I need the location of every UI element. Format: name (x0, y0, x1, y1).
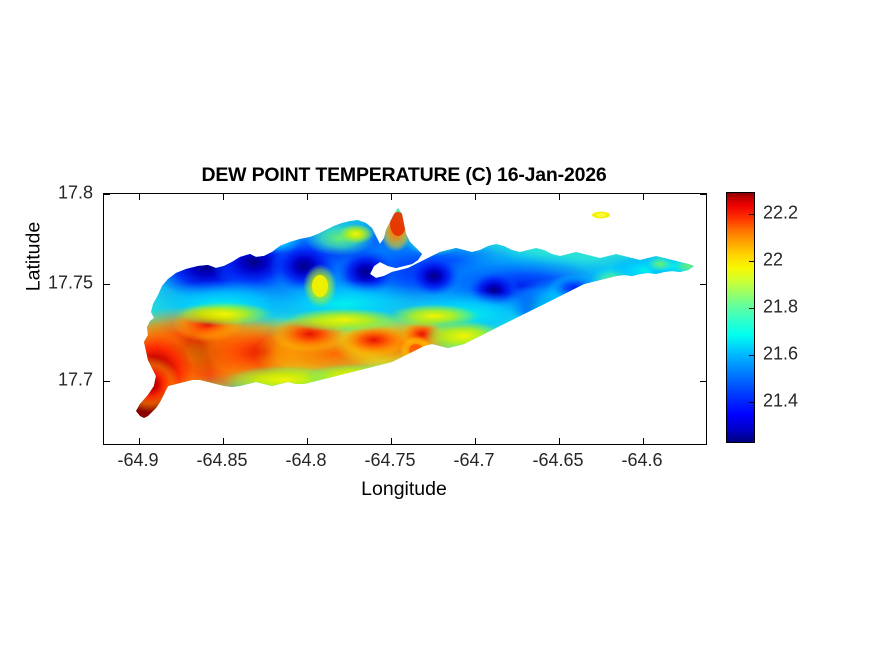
xtick-label: -64.65 (532, 450, 583, 471)
xtick-mark (643, 438, 644, 444)
temperature-field-map (104, 194, 706, 444)
x-axis-label: Longitude (103, 478, 705, 501)
xtick-label: -64.6 (621, 450, 662, 471)
xtick-mark (475, 194, 476, 200)
xtick-mark (139, 194, 140, 200)
xtick-label: -64.75 (364, 450, 415, 471)
xtick-mark (643, 194, 644, 200)
colorbar-tick (749, 355, 754, 356)
xtick-mark (139, 438, 140, 444)
colorbar-label: 22.2 (763, 203, 798, 224)
interpolated-field (104, 194, 706, 444)
ytick-mark (104, 381, 110, 382)
colorbar-label: 21.4 (763, 391, 798, 412)
xtick-mark (391, 438, 392, 444)
colorbar-label: 21.6 (763, 344, 798, 365)
colorbar-tick (749, 308, 754, 309)
xtick-mark (391, 194, 392, 200)
xtick-mark (307, 438, 308, 444)
ytick-mark (700, 284, 706, 285)
xtick-label: -64.9 (117, 450, 158, 471)
page-title: DEW POINT TEMPERATURE (C) 16-Jan-2026 (103, 164, 705, 187)
xtick-mark (223, 194, 224, 200)
xtick-label: -64.7 (453, 450, 494, 471)
colorbar-tick (749, 214, 754, 215)
colorbar-label: 22 (763, 250, 783, 271)
xtick-label: -64.8 (285, 450, 326, 471)
xtick-mark (307, 194, 308, 200)
figure-canvas: DEW POINT TEMPERATURE (C) 16-Jan-2026 (0, 0, 875, 656)
ytick-label: 17.7 (35, 370, 93, 391)
xtick-mark (475, 438, 476, 444)
colorbar-tick (749, 261, 754, 262)
xtick-mark (223, 438, 224, 444)
colorbar-label: 21.8 (763, 297, 798, 318)
ytick-mark (104, 284, 110, 285)
colorbar (726, 192, 755, 443)
ytick-mark (700, 381, 706, 382)
y-axis-label: Latitude (23, 182, 46, 332)
colorbar-tick (749, 402, 754, 403)
ytick-mark (700, 194, 706, 195)
map-plot-area (103, 193, 707, 445)
xtick-mark (559, 438, 560, 444)
ytick-mark (104, 194, 110, 195)
xtick-label: -64.85 (196, 450, 247, 471)
xtick-mark (559, 194, 560, 200)
buck-island-islet (592, 212, 610, 219)
